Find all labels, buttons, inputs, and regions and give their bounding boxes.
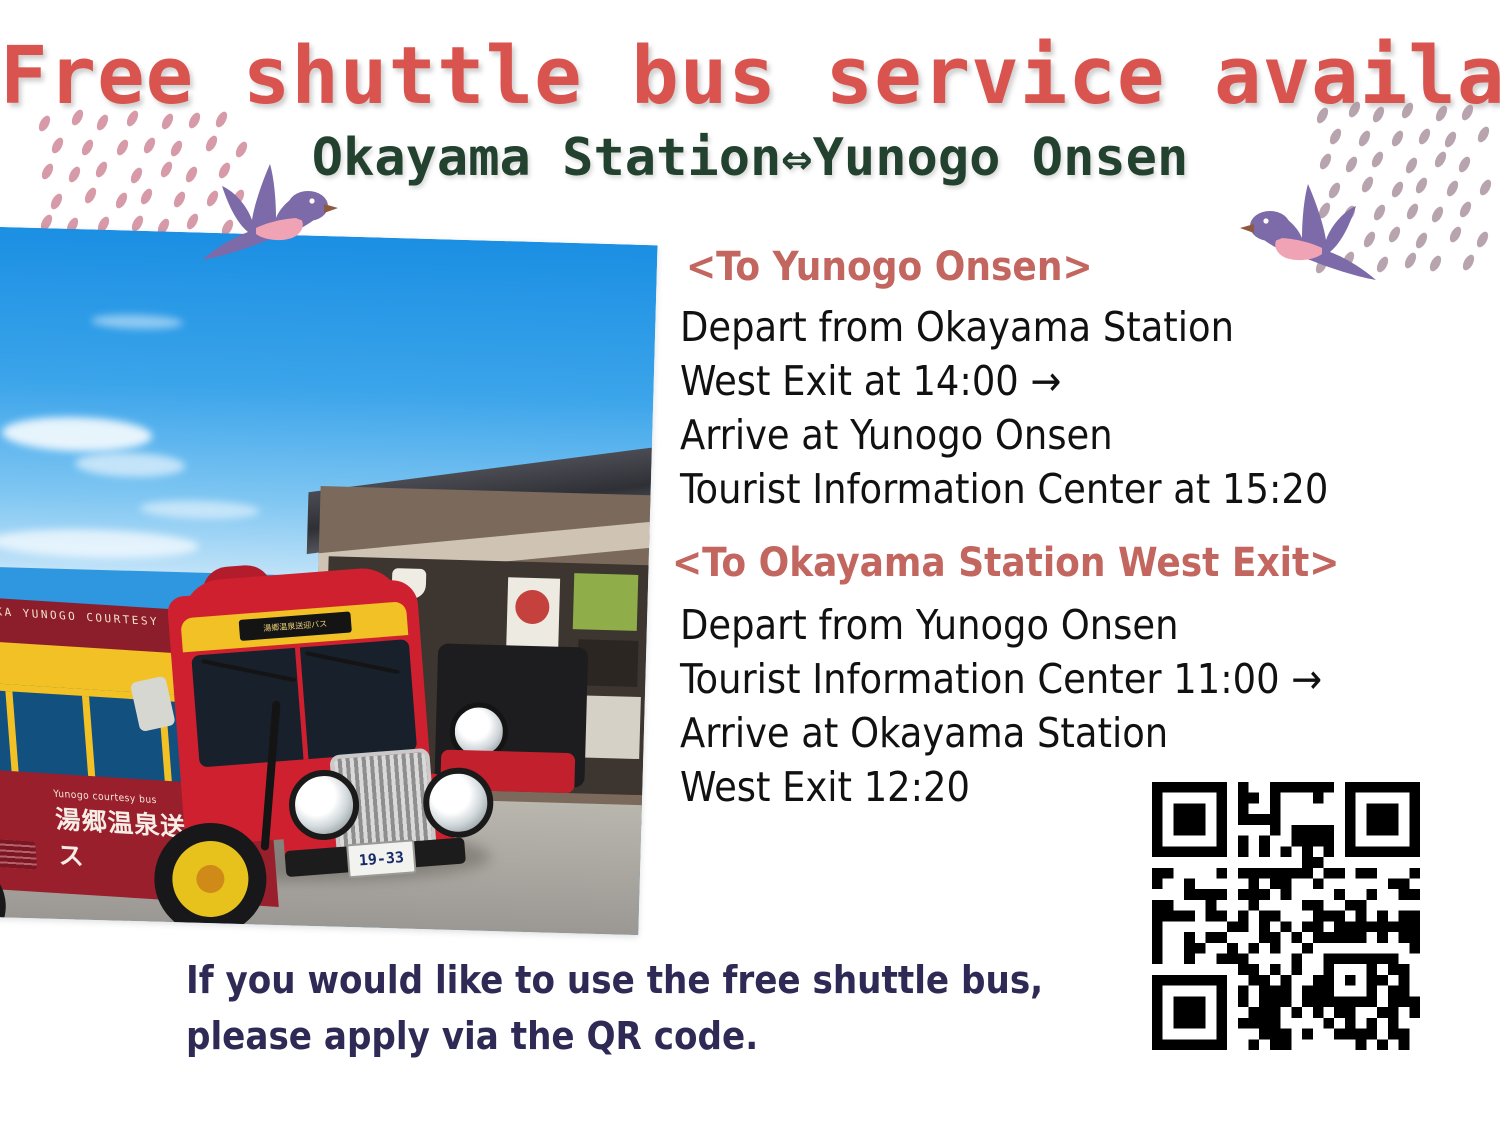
schedule-heading-to-yunogo: <To Yunogo Onsen> — [686, 244, 1093, 290]
apply-note-line-2: please apply via the QR code. — [186, 1008, 1043, 1064]
courtesy-bus: MIMASAKA YUNOGO COURTESY BUS Yunogo cour… — [0, 532, 516, 904]
schedule-body-to-yunogo: Depart from Okayama Station West Exit at… — [680, 300, 1328, 516]
shop-banner — [573, 573, 639, 631]
qr-code[interactable] — [1152, 782, 1420, 1050]
schedule-line: West Exit at 14:00 → — [680, 354, 1328, 408]
schedule-line: Depart from Yunogo Onsen — [680, 598, 1322, 652]
page-subtitle: Okayama Station⇔Yunogo Onsen — [0, 128, 1500, 188]
schedule-line: Tourist Information Center at 15:20 — [680, 462, 1328, 516]
schedule-line: Arrive at Okayama Station — [680, 706, 1322, 760]
bird-right-icon — [1232, 176, 1382, 291]
bus-photo: MIMASAKA YUNOGO COURTESY BUS Yunogo cour… — [0, 227, 658, 935]
schedule-heading-to-okayama: <To Okayama Station West Exit> — [672, 540, 1339, 586]
apply-note-line-1: If you would like to use the free shuttl… — [186, 952, 1043, 1008]
schedule-line: Arrive at Yunogo Onsen — [680, 408, 1328, 462]
license-plate: 19-33 — [346, 839, 416, 878]
page-title: Free shuttle bus service available — [0, 30, 1500, 122]
bus-vent — [0, 837, 37, 870]
schedule-line: Tourist Information Center 11:00 → — [680, 652, 1322, 706]
shop-poster — [583, 695, 641, 759]
poster-root: MIMASAKA YUNOGO COURTESY BUS Yunogo cour… — [0, 0, 1500, 1126]
apply-note: If you would like to use the free shuttl… — [186, 952, 1043, 1064]
schedule-line: Depart from Okayama Station — [680, 300, 1328, 354]
